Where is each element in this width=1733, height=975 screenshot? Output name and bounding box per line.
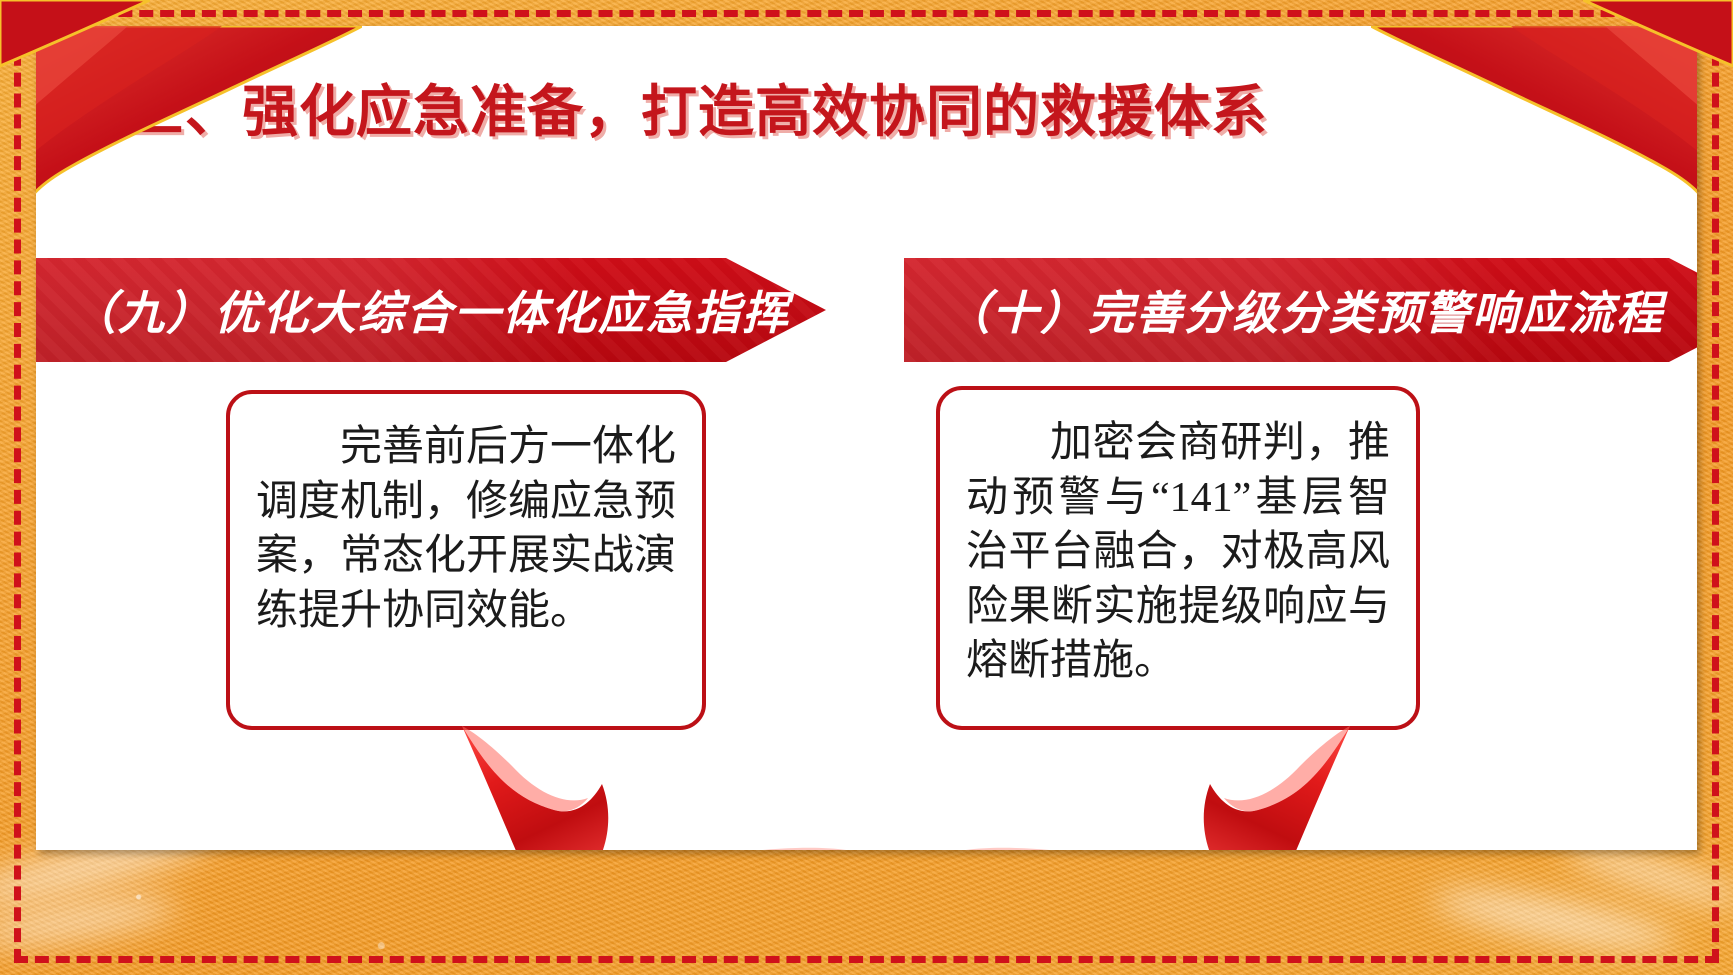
note-text: 完善前后方一体化调度机制，修编应急预案，常态化开展实战演练提升协同效能。	[256, 420, 676, 638]
banner-item-ten[interactable]: （十）完善分级分类预警响应流程	[904, 258, 1697, 362]
red-curtain-drape-right-icon	[1371, 26, 1697, 211]
note-text: 加密会商研判，推动预警与“141”基层智治平台融合，对极高风险果断实施提级响应与…	[966, 416, 1390, 689]
content-card: 三、强化应急准备，打造高效协同的救援体系 （九）优化大综合一体化应急指挥 （十）…	[36, 26, 1697, 850]
note-box-right[interactable]: 加密会商研判，推动预警与“141”基层智治平台融合，对极高风险果断实施提级响应与…	[936, 386, 1420, 730]
banner-item-nine[interactable]: （九）优化大综合一体化应急指挥	[36, 258, 826, 362]
banner-label: （九）优化大综合一体化应急指挥	[70, 277, 790, 343]
note-box-left[interactable]: 完善前后方一体化调度机制，修编应急预案，常态化开展实战演练提升协同效能。	[226, 390, 706, 730]
banner-label: （十）完善分级分类预警响应流程	[944, 277, 1664, 343]
slide-root: 三、强化应急准备，打造高效协同的救援体系 （九）优化大综合一体化应急指挥 （十）…	[0, 0, 1733, 975]
page-title: 三、强化应急准备，打造高效协同的救援体系	[128, 84, 1268, 140]
banner-row: （九）优化大综合一体化应急指挥 （十）完善分级分类预警响应流程	[36, 258, 1697, 362]
